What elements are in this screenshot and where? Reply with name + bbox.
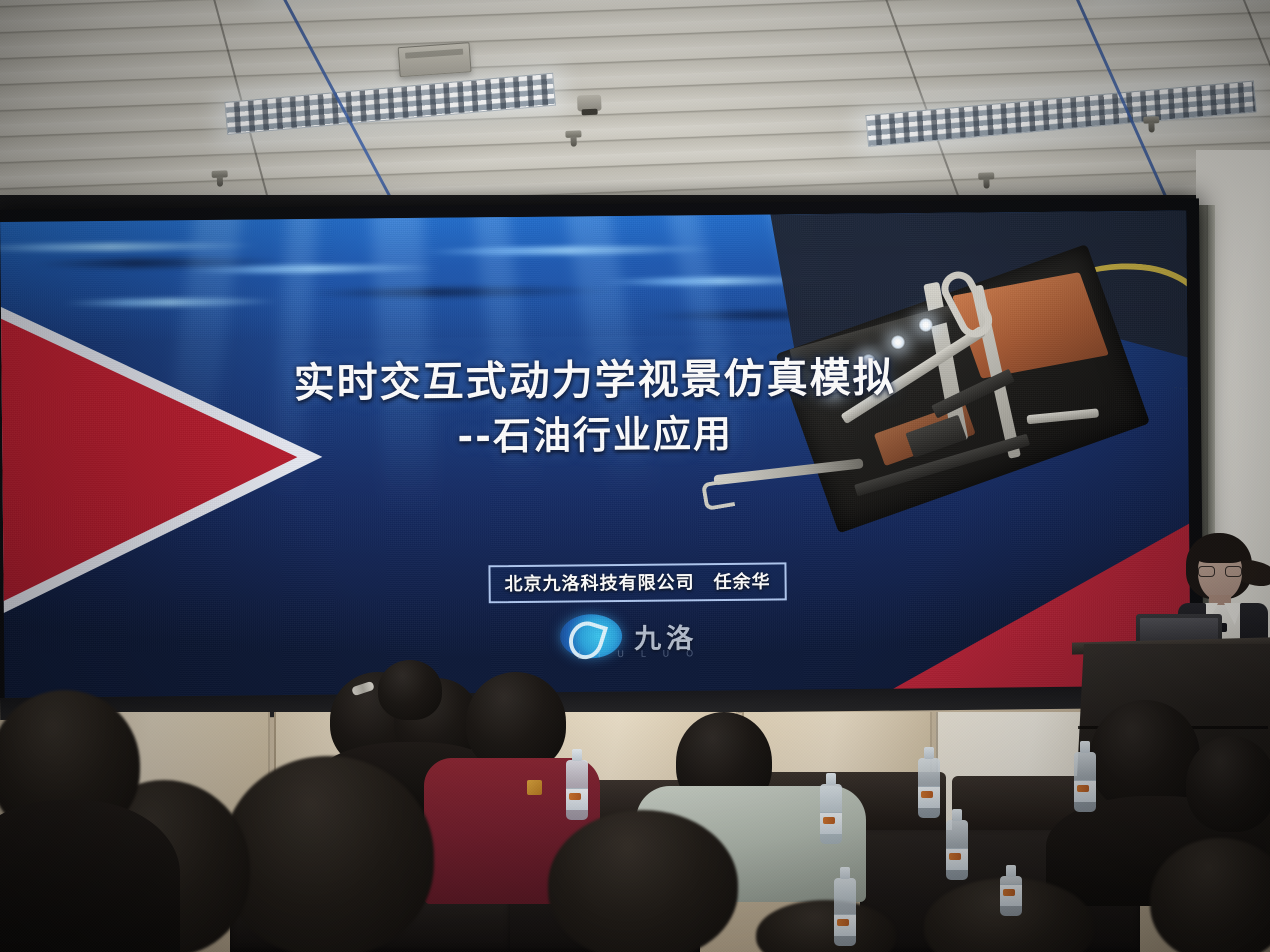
conference-hall-scene: 实时交互式动力学视景仿真模拟 --石油行业应用 北京九洛科技有限公司 任余华 九…: [0, 0, 1270, 952]
audience-head: [548, 810, 738, 952]
audience-head: [466, 672, 566, 772]
company-and-speaker-box: 北京九洛科技有限公司 任余华: [488, 562, 786, 603]
ceiling-speaker-box: [398, 42, 472, 77]
water-bottle[interactable]: [1074, 752, 1096, 812]
water-bottle[interactable]: [1000, 876, 1022, 916]
sprinkler-head: [212, 170, 228, 178]
eyeglasses-icon: [1198, 566, 1242, 577]
presentation-slide: 实时交互式动力学视景仿真模拟 --石油行业应用 北京九洛科技有限公司 任余华 九…: [0, 211, 1191, 712]
sprinkler-head: [1143, 116, 1159, 124]
water-bottle[interactable]: [918, 758, 940, 818]
water-bottle[interactable]: [834, 878, 856, 946]
water-bottle[interactable]: [946, 820, 968, 880]
bottle-label: [566, 788, 588, 810]
vest-logo: [527, 780, 542, 795]
water-bottle[interactable]: [820, 784, 842, 844]
audience-shoulders: [0, 800, 180, 952]
bottle-label: [1000, 884, 1022, 906]
bottle-label: [918, 786, 940, 808]
presenter-fringe: [1194, 539, 1246, 563]
sprinkler-head: [978, 172, 994, 180]
company-logo-subtext: J I U L U O: [578, 649, 700, 660]
led-video-wall[interactable]: 实时交互式动力学视景仿真模拟 --石油行业应用 北京九洛科技有限公司 任余华 九…: [0, 198, 1204, 724]
audience-head: [378, 660, 442, 720]
bottle-label: [946, 848, 968, 870]
rov-manipulator-claw: [701, 478, 735, 511]
audience-head: [222, 756, 434, 952]
bottle-label: [820, 812, 842, 834]
ceiling-camera: [577, 95, 602, 112]
sprinkler-head: [565, 130, 581, 138]
audience-head: [1186, 736, 1270, 832]
slide-title-line-2: --石油行业应用: [2, 399, 1188, 465]
bottle-label: [1074, 780, 1096, 802]
bottle-label: [834, 914, 856, 936]
water-bottle[interactable]: [566, 760, 588, 820]
